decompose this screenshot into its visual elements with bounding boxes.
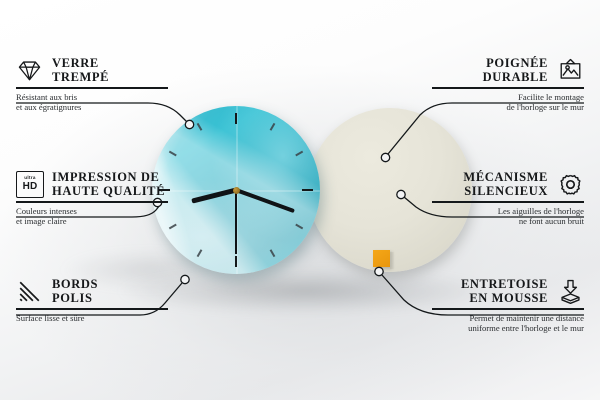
feature-header: VERRE TREMPÉ — [16, 56, 256, 84]
feature-bords-polis: BORDS POLIS Surface lisse et sûre — [16, 277, 256, 323]
infographic-stage: VERRE TREMPÉ Résistant aux bris et aux é… — [0, 0, 600, 400]
feature-desc-line2: de l'horloge sur le mur — [344, 102, 584, 112]
feature-title-line1: MÉCANISME — [463, 170, 548, 184]
feature-entretoise-en-mousse: ENTRETOISE EN MOUSSE Permet de maintenir… — [344, 277, 584, 334]
feature-description: Surface lisse et sûre — [16, 313, 256, 323]
feature-description: Résistant aux bris et aux égratignures — [16, 92, 256, 113]
feature-divider — [16, 87, 168, 89]
hanging-frame-icon — [557, 57, 584, 84]
foam-spacer-icon — [557, 278, 584, 305]
feature-header: ultra HD IMPRESSION DE HAUTE QUALITÉ — [16, 170, 256, 198]
feature-header: MÉCANISME SILENCIEUX — [344, 170, 584, 198]
feature-header: BORDS POLIS — [16, 277, 256, 305]
connector-dot-entretoise — [375, 267, 383, 275]
feature-impression-haute-qualite: ultra HD IMPRESSION DE HAUTE QUALITÉ Cou… — [16, 170, 256, 227]
feature-title-line1: BORDS — [52, 277, 98, 291]
feature-desc-line1: Les aiguilles de l'horloge — [344, 206, 584, 216]
feature-desc-line1: Couleurs intenses — [16, 206, 256, 216]
feature-title-line2: HAUTE QUALITÉ — [52, 184, 165, 198]
feature-desc-line2: et aux égratignures — [16, 102, 256, 112]
feature-title: IMPRESSION DE HAUTE QUALITÉ — [52, 170, 165, 198]
feature-title: BORDS POLIS — [52, 277, 98, 305]
feature-desc-line1: Permet de maintenir une distance — [344, 313, 584, 323]
polished-edges-icon — [16, 278, 43, 305]
feature-description: Couleurs intenses et image claire — [16, 206, 256, 227]
feature-desc-line1: Facilite le montage — [344, 92, 584, 102]
feature-title-line2: EN MOUSSE — [461, 291, 548, 305]
feature-title-line1: ENTRETOISE — [461, 277, 548, 291]
feature-mecanisme-silencieux: MÉCANISME SILENCIEUX Les aiguilles de l'… — [344, 170, 584, 227]
feature-desc-line2: et image claire — [16, 216, 256, 226]
feature-description: Permet de maintenir une distance uniform… — [344, 313, 584, 334]
feature-title-line1: IMPRESSION DE — [52, 170, 165, 184]
ultra-hd-badge-icon: ultra HD — [16, 171, 43, 198]
feature-divider — [432, 308, 584, 310]
feature-title: VERRE TREMPÉ — [52, 56, 109, 84]
feature-title: POIGNÉE DURABLE — [483, 56, 548, 84]
feature-header: ENTRETOISE EN MOUSSE — [344, 277, 584, 305]
feature-header: POIGNÉE DURABLE — [344, 56, 584, 84]
feature-title: ENTRETOISE EN MOUSSE — [461, 277, 548, 305]
diamond-icon — [16, 57, 43, 84]
feature-verre-trempe: VERRE TREMPÉ Résistant aux bris et aux é… — [16, 56, 256, 113]
feature-desc-line1: Surface lisse et sûre — [16, 313, 256, 323]
feature-title-line1: VERRE — [52, 56, 109, 70]
feature-title-line2: DURABLE — [483, 70, 548, 84]
gear-icon — [557, 171, 584, 198]
connector-dot-poignee — [381, 153, 389, 161]
feature-description: Les aiguilles de l'horloge ne font aucun… — [344, 206, 584, 227]
feature-title: MÉCANISME SILENCIEUX — [463, 170, 548, 198]
hd-badge-main-label: HD — [23, 182, 38, 192]
feature-desc-line2: uniforme entre l'horloge et le mur — [344, 323, 584, 333]
feature-divider — [432, 87, 584, 89]
feature-divider — [432, 201, 584, 203]
feature-title-line2: TREMPÉ — [52, 70, 109, 84]
feature-divider — [16, 308, 168, 310]
feature-title-line2: POLIS — [52, 291, 98, 305]
feature-title-line1: POIGNÉE — [483, 56, 548, 70]
feature-description: Facilite le montage de l'horloge sur le … — [344, 92, 584, 113]
feature-title-line2: SILENCIEUX — [463, 184, 548, 198]
feature-desc-line1: Résistant aux bris — [16, 92, 256, 102]
feature-desc-line2: ne font aucun bruit — [344, 216, 584, 226]
connector-dot-verre — [185, 120, 193, 128]
feature-poignee-durable: POIGNÉE DURABLE Facilite le montage de l… — [344, 56, 584, 113]
feature-divider — [16, 201, 168, 203]
